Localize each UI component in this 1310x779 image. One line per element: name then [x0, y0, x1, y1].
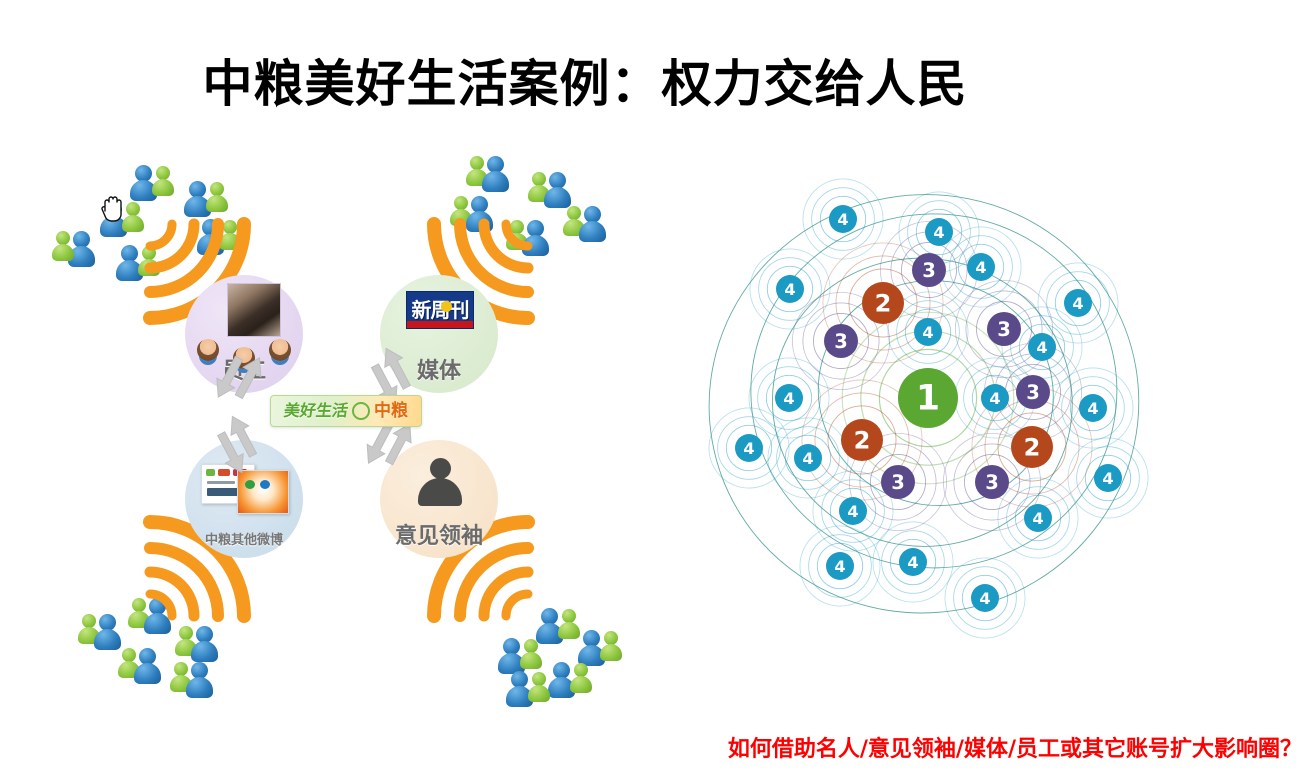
- ripple-node-level-4: 4: [794, 444, 822, 472]
- ripple-node-level-3: 3: [975, 465, 1009, 499]
- ripple-node-level-4: 4: [829, 205, 857, 233]
- ripple-node-level-3: 3: [824, 324, 858, 358]
- magazine-logo-text: 新周刊: [412, 300, 469, 320]
- svg-text:4: 4: [1087, 399, 1098, 418]
- weibo-card-highlight-icon: [237, 470, 289, 514]
- ripple-node-level-4: 4: [776, 275, 804, 303]
- influence-flow-diagram: 员工 新周刊 媒体 中粮其他微博: [30, 150, 650, 680]
- badge-green-text: 美好生活: [283, 403, 349, 419]
- ripple-node-level-4: 4: [899, 548, 927, 576]
- people-pair-icon: [506, 667, 554, 707]
- ripple-node-level-4: 4: [1064, 289, 1092, 317]
- svg-text:2: 2: [1024, 434, 1041, 462]
- svg-text:4: 4: [922, 323, 933, 342]
- person-silhouette-icon: [418, 458, 462, 506]
- people-pair-icon: [118, 644, 166, 684]
- svg-text:4: 4: [784, 280, 795, 299]
- node-kol-label: 意见领袖: [395, 518, 483, 550]
- ripple-node-level-2: 2: [1011, 426, 1053, 468]
- magazine-logo-icon: 新周刊: [406, 291, 474, 329]
- ripple-node-level-3: 3: [987, 312, 1021, 346]
- ripple-node-level-1: 1: [898, 368, 958, 428]
- ripple-node-level-4: 4: [839, 497, 867, 525]
- people-pair-icon: [175, 622, 223, 662]
- hand-grab-cursor[interactable]: [100, 193, 126, 223]
- svg-text:4: 4: [1072, 294, 1083, 313]
- svg-text:4: 4: [802, 449, 813, 468]
- ripple-node-level-4: 4: [1024, 504, 1052, 532]
- svg-text:4: 4: [907, 553, 918, 572]
- page-title: 中粮美好生活案例：权力交给人民: [0, 44, 1170, 116]
- node-media-label: 媒体: [417, 353, 461, 385]
- svg-text:4: 4: [979, 589, 990, 608]
- people-pair-icon: [548, 658, 596, 698]
- svg-text:3: 3: [997, 318, 1011, 341]
- svg-text:4: 4: [1032, 509, 1043, 528]
- ripple-node-level-4: 4: [1094, 464, 1122, 492]
- node-weibo-label: 中粮其他微博: [205, 529, 283, 548]
- svg-text:3: 3: [985, 471, 999, 494]
- ripple-node-level-4: 4: [775, 384, 803, 412]
- ripple-node-level-2: 2: [862, 282, 904, 324]
- svg-text:4: 4: [837, 210, 848, 229]
- people-pair-icon: [466, 152, 514, 192]
- svg-text:4: 4: [989, 389, 1000, 408]
- ripple-node-level-4: 4: [925, 218, 953, 246]
- ripple-node-level-3: 3: [1016, 375, 1050, 409]
- employee-photo-icon: [227, 283, 281, 337]
- svg-text:3: 3: [891, 471, 905, 494]
- center-brand-badge[interactable]: 美好生活 中粮: [270, 395, 422, 427]
- ripple-node-level-3: 3: [881, 465, 915, 499]
- at-symbol-icon: [352, 402, 370, 420]
- svg-text:3: 3: [1026, 381, 1040, 404]
- svg-text:4: 4: [975, 258, 986, 277]
- svg-text:4: 4: [933, 223, 944, 242]
- svg-text:4: 4: [783, 389, 794, 408]
- svg-text:1: 1: [916, 379, 940, 419]
- ripple-node-level-3: 3: [912, 253, 946, 287]
- svg-text:4: 4: [1102, 469, 1113, 488]
- people-pair-icon: [130, 161, 178, 201]
- ripple-node-level-4: 4: [1079, 394, 1107, 422]
- ripple-node-level-4: 4: [971, 584, 999, 612]
- ripple-node-level-4: 4: [967, 253, 995, 281]
- ripple-node-level-4: 4: [914, 318, 942, 346]
- ripple-node-level-4: 4: [735, 434, 763, 462]
- people-pair-icon: [170, 658, 218, 698]
- influence-ripple-chart: 1222333333444444444444444444: [700, 170, 1150, 640]
- svg-text:4: 4: [743, 439, 754, 458]
- ripple-network-svg: 1222333333444444444444444444: [700, 170, 1150, 640]
- ripple-node-level-2: 2: [841, 419, 883, 461]
- svg-text:2: 2: [854, 427, 871, 455]
- svg-text:4: 4: [1036, 338, 1047, 357]
- svg-text:4: 4: [847, 502, 858, 521]
- ripple-node-level-4: 4: [981, 384, 1009, 412]
- slide-root: 中粮美好生活案例：权力交给人民: [0, 0, 1310, 779]
- svg-text:4: 4: [834, 557, 845, 576]
- people-pair-icon: [52, 227, 100, 267]
- ripple-node-level-4: 4: [1028, 333, 1056, 361]
- badge-orange-text: 中粮: [374, 403, 408, 420]
- people-pair-icon: [184, 177, 232, 217]
- footnote-question: 如何借助名人/意见领袖/媒体/员工或其它账号扩大影响圈？: [728, 731, 1302, 763]
- ripple-node-level-4: 4: [826, 552, 854, 580]
- people-pair-icon: [563, 202, 611, 242]
- svg-text:2: 2: [875, 290, 892, 318]
- svg-text:3: 3: [922, 259, 936, 282]
- svg-text:3: 3: [834, 330, 848, 353]
